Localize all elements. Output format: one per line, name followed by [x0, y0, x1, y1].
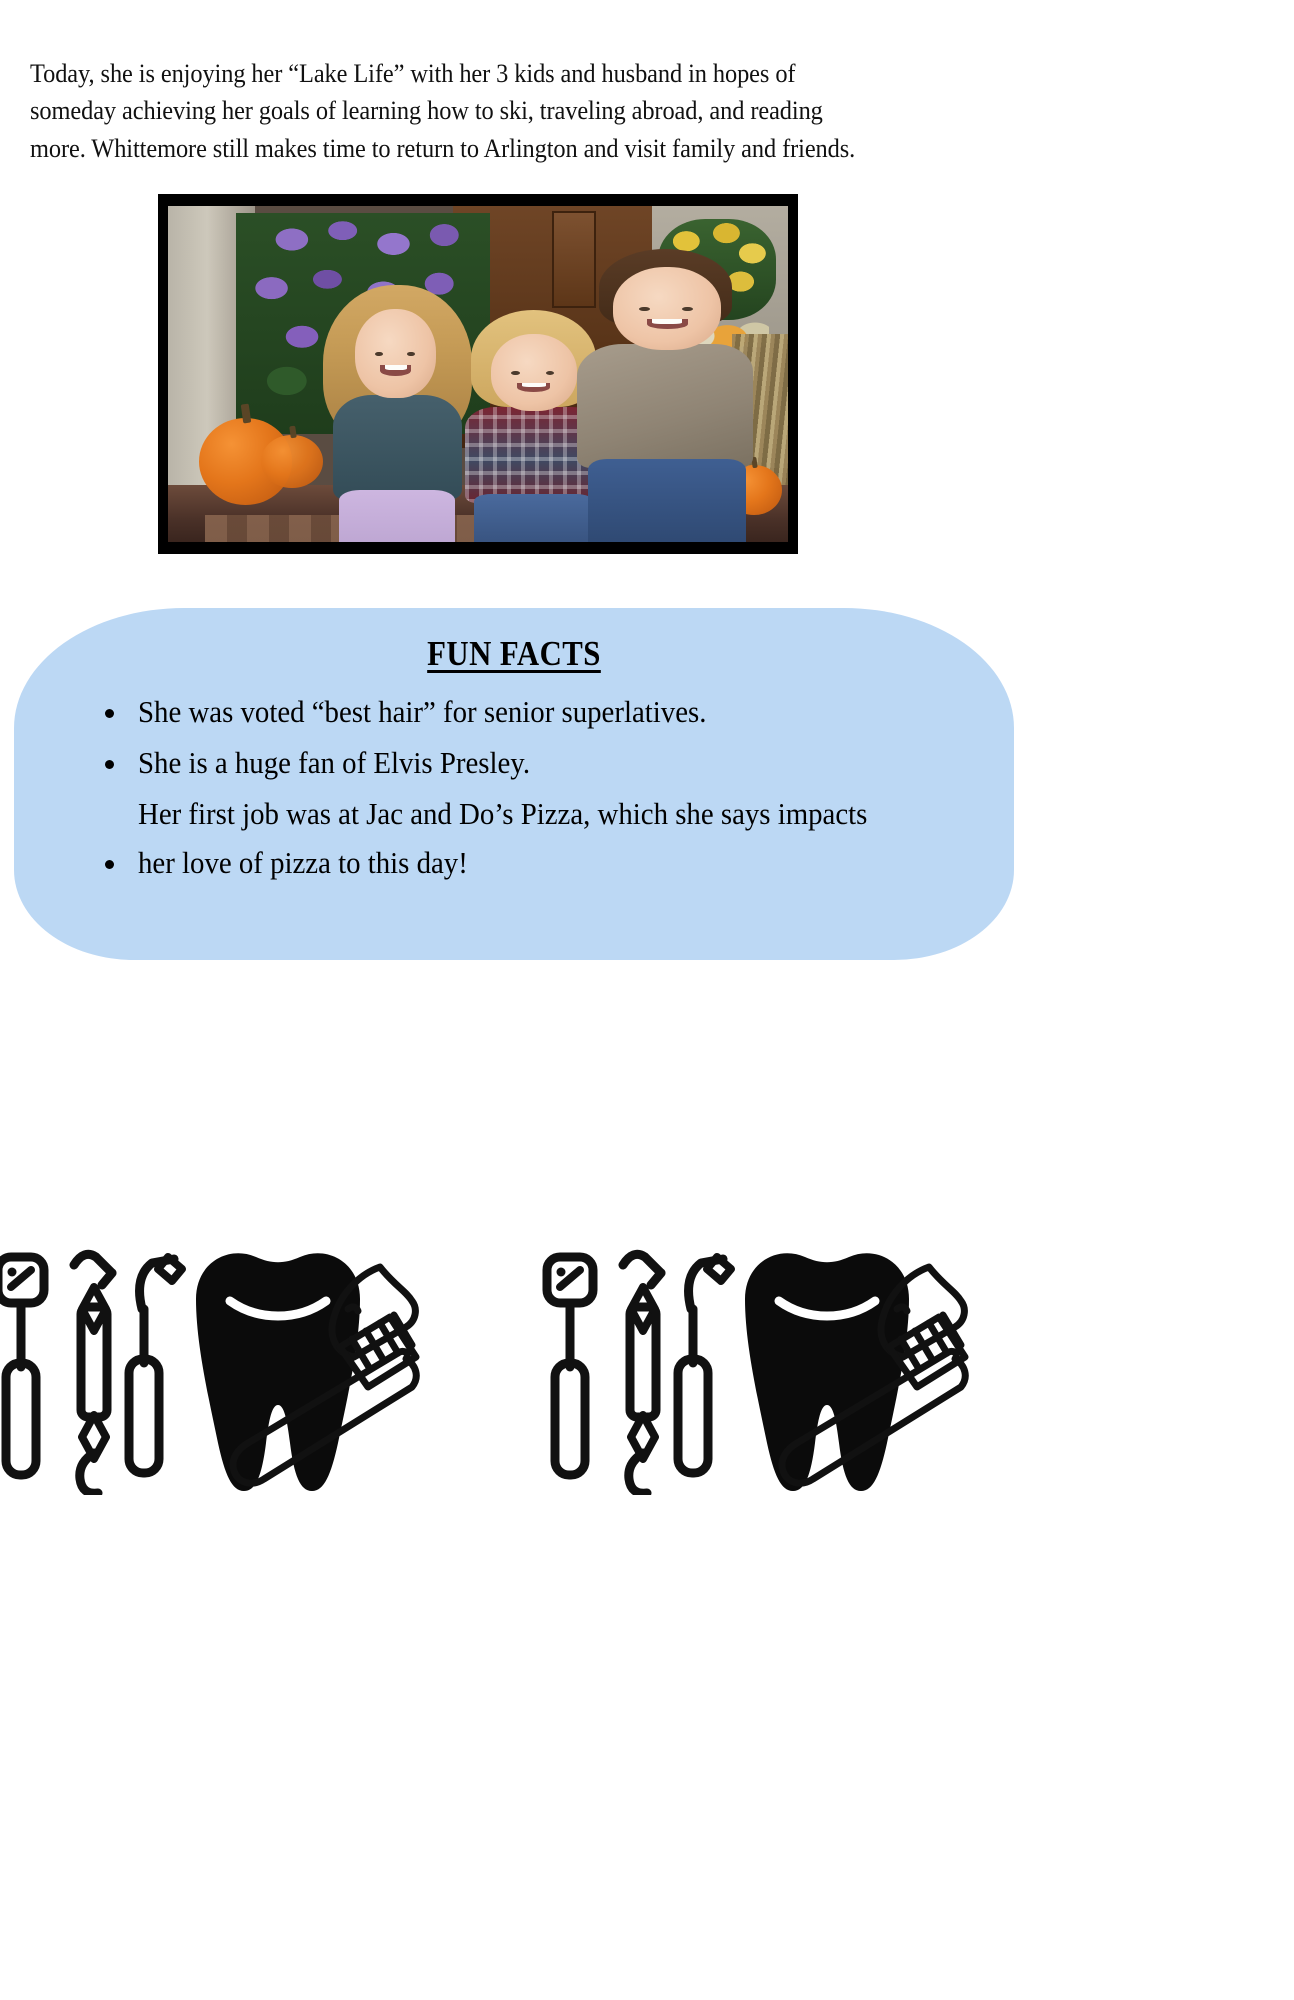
intro-paragraph: Today, she is enjoying her “Lake Life” w… [30, 55, 876, 168]
younger-boy-face [491, 334, 577, 411]
dental-scaler-icon [623, 1254, 661, 1493]
girl-eye-right [407, 352, 415, 357]
fun-facts-panel: FUN FACTS She was voted “best hair” for … [14, 608, 1014, 960]
dental-probe-icon [678, 1257, 731, 1473]
fun-fact-text: Her first job was at Jac and Do’s Pizza,… [138, 790, 888, 888]
dental-probe-icon [129, 1257, 182, 1473]
dental-icon-strip [0, 1235, 1294, 1495]
dental-scaler-icon [74, 1254, 112, 1493]
fun-facts-title: FUN FACTS [74, 634, 954, 674]
girl-pants [339, 490, 455, 542]
younger-boy-eye-left [511, 371, 520, 375]
list-item: Her first job was at Jac and Do’s Pizza,… [130, 790, 944, 888]
younger-boy-smile [517, 383, 550, 392]
list-item: She is a huge fan of Elvis Presley. [130, 739, 944, 788]
tooth-icon [745, 1253, 909, 1491]
older-boy-eye-left [639, 307, 650, 312]
tooth-icon [196, 1253, 360, 1491]
girl-shirt [333, 395, 462, 500]
family-photo [168, 206, 788, 542]
girl-eye-left [375, 352, 383, 357]
family-photo-frame [158, 194, 798, 554]
younger-boy-eye-right [546, 371, 555, 375]
child-girl [317, 280, 478, 542]
younger-boy-jeans [474, 494, 593, 542]
older-boy-henley-shirt [577, 344, 753, 468]
older-boy-face [613, 267, 721, 350]
girl-face [355, 309, 436, 398]
older-boy-eye-right [682, 307, 693, 312]
girl-smile [380, 365, 411, 376]
dental-mirror-icon [0, 1257, 44, 1475]
dental-mirror-icon [547, 1257, 593, 1475]
list-item: She was voted “best hair” for senior sup… [130, 688, 944, 737]
older-boy-smile [647, 319, 688, 329]
pumpkin-small [261, 435, 323, 489]
child-older-boy [577, 246, 757, 542]
fun-fact-text: She is a huge fan of Elvis Presley. [138, 739, 530, 788]
fun-facts-list: She was voted “best hair” for senior sup… [102, 688, 944, 890]
older-boy-jeans [588, 459, 746, 542]
fun-fact-text: She was voted “best hair” for senior sup… [138, 688, 706, 737]
